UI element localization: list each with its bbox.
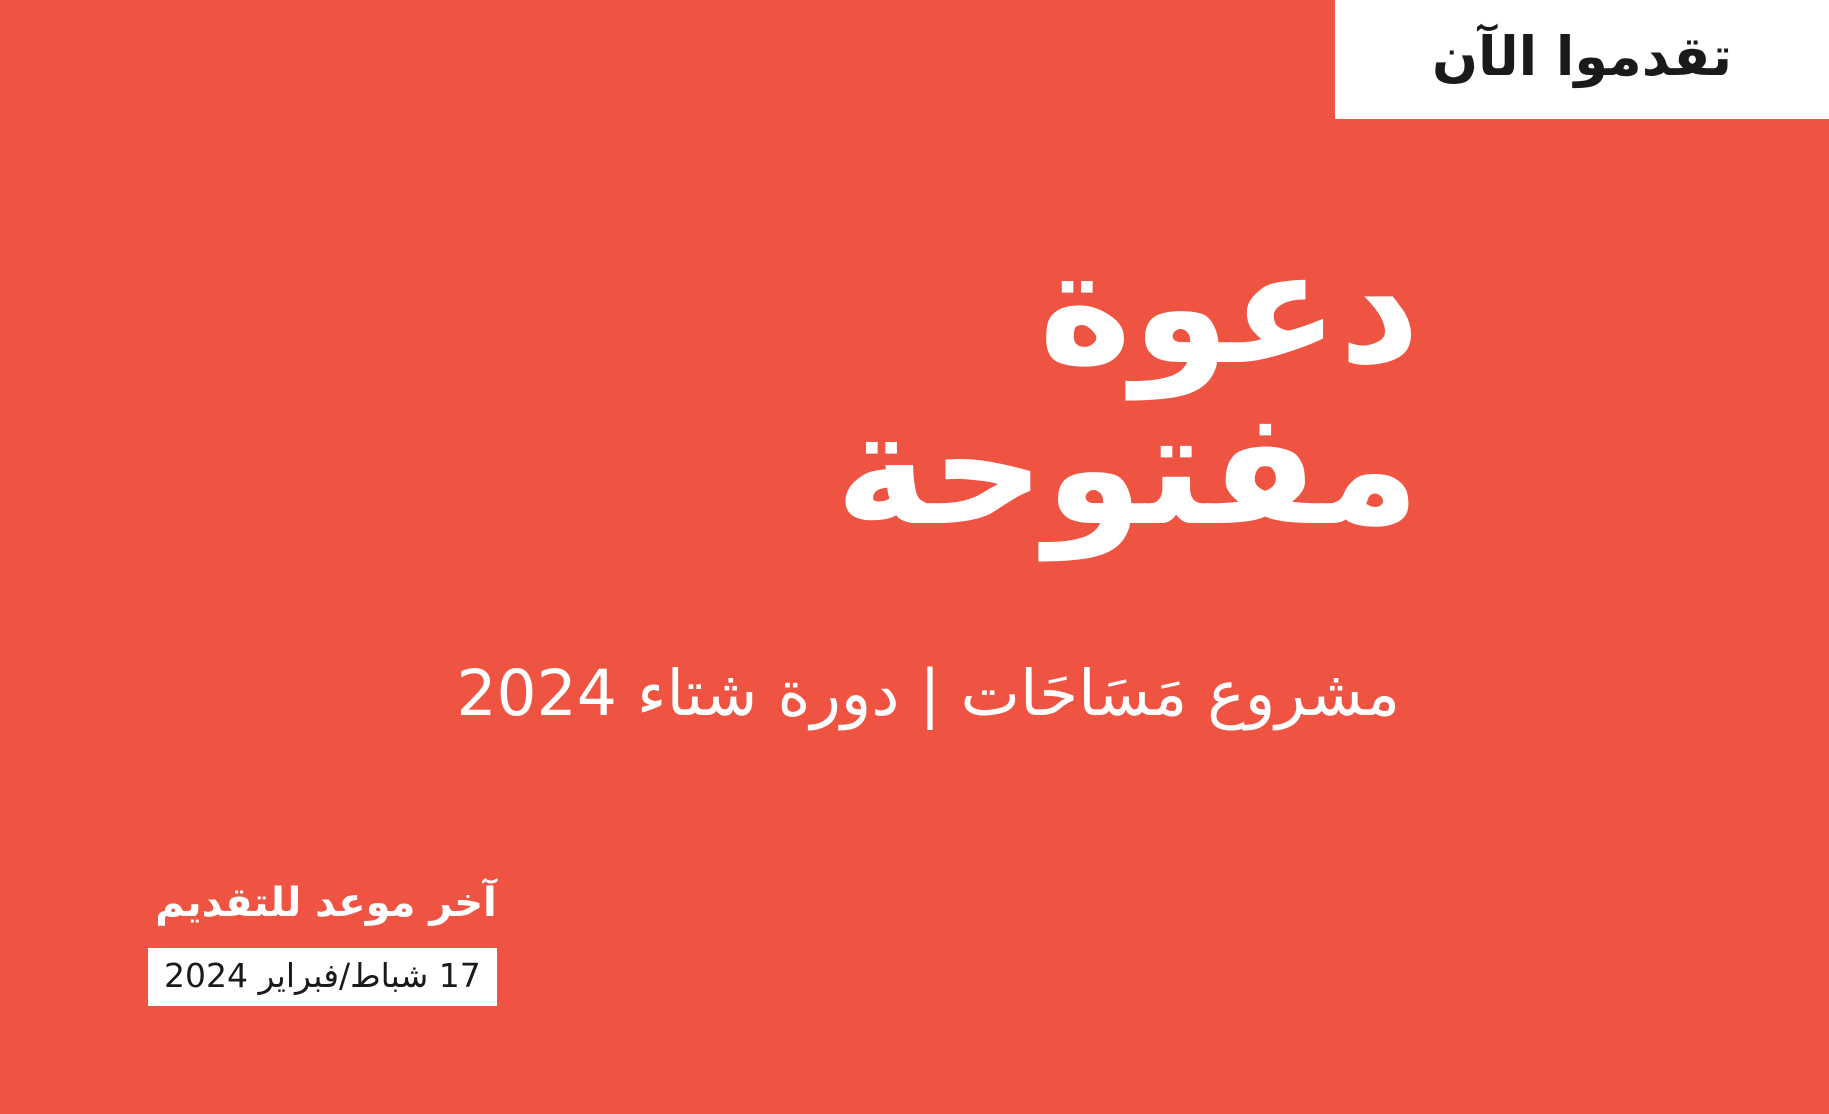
deadline-label: آخر موعد للتقديم	[148, 878, 497, 928]
poster-canvas: تقدموا الآن دعوة مفتوحة مشروع مَسَاحَات …	[0, 0, 1829, 1114]
apply-now-label: تقدموا الآن	[1432, 30, 1732, 84]
deadline-block: آخر موعد للتقديم 17 شباط/فبراير 2024	[148, 878, 497, 1006]
headline-line-2: مفتوحة	[835, 389, 1420, 550]
headline: دعوة مفتوحة	[835, 228, 1420, 550]
deadline-date-chip: 17 شباط/فبراير 2024	[148, 948, 497, 1006]
subtitle: مشروع مَسَاحَات | دورة شتاء 2024	[456, 655, 1400, 734]
headline-line-1: دعوة	[835, 228, 1420, 389]
apply-now-badge[interactable]: تقدموا الآن	[1335, 0, 1829, 119]
